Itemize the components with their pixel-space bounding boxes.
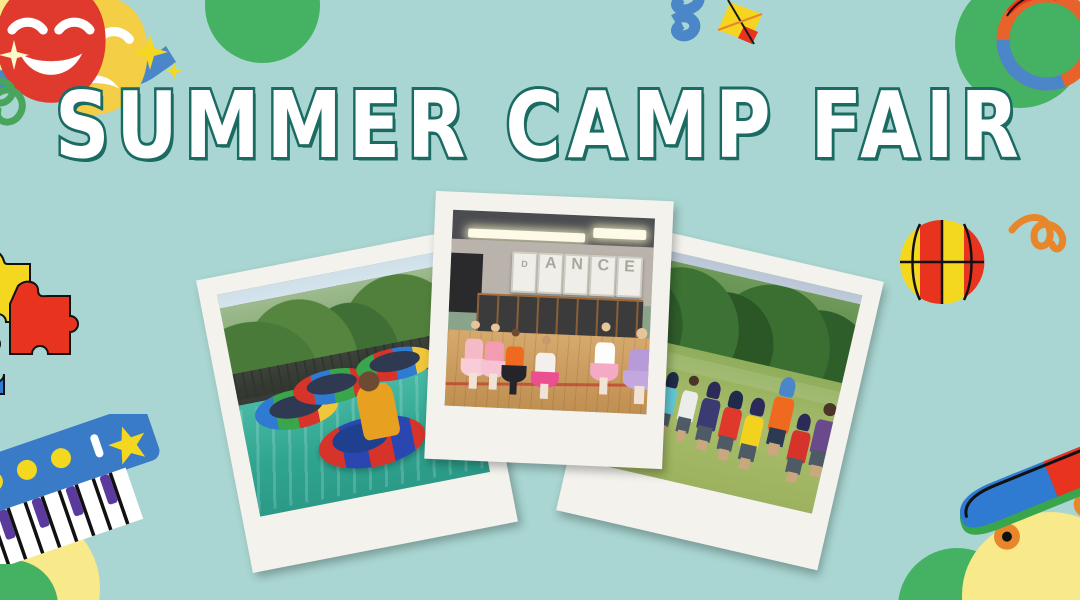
marquee-letter-c: C <box>589 255 617 297</box>
dancer <box>464 320 485 387</box>
toy-keyboard <box>0 414 194 564</box>
puzzle-icon <box>0 248 108 408</box>
marquee-letter-n: N <box>563 254 591 296</box>
dancer <box>593 322 616 393</box>
dancer <box>534 335 557 399</box>
basketball <box>898 218 986 306</box>
child-orange-shirt <box>504 328 525 393</box>
dancer <box>484 323 505 388</box>
skateboard <box>938 432 1080 562</box>
sparkle-star-icon <box>128 30 188 90</box>
concentric-rings <box>985 0 1080 112</box>
marquee-letter-e: E <box>615 256 643 298</box>
orange-squiggle-icon <box>1008 208 1080 270</box>
rings-icon <box>985 0 1080 112</box>
keyboard-icon <box>0 414 194 564</box>
skateboard-icon <box>938 432 1080 562</box>
green-squiggle-icon <box>0 74 74 154</box>
photo-card-dance-class[interactable]: D A N C E <box>424 191 673 469</box>
photo-dance-class: D A N C E <box>445 210 655 415</box>
kite <box>664 0 784 66</box>
basketball-icon <box>898 218 986 306</box>
adult-instructor <box>627 327 654 402</box>
green-circle-top <box>205 0 320 63</box>
poster-canvas: SUMMER CAMP FAIR <box>0 0 1080 600</box>
marquee-letter-d: D <box>510 251 538 293</box>
puzzle-pieces <box>0 248 108 408</box>
sparkle-star-icon-2 <box>0 36 34 76</box>
kite-icon <box>664 0 784 66</box>
marquee-letter-a: A <box>536 253 564 295</box>
